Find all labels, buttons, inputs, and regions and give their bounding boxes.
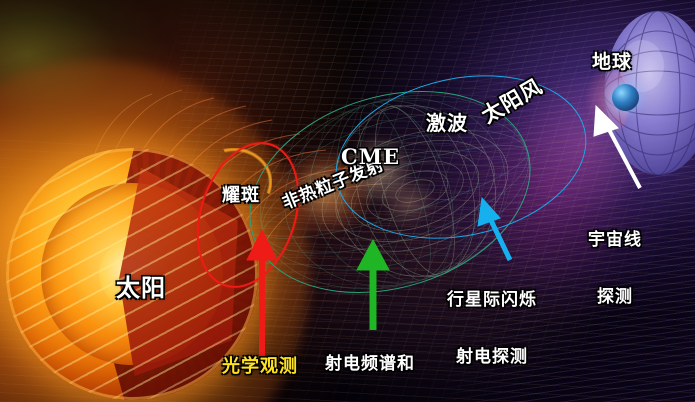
earth-globe	[612, 84, 639, 111]
label-shock: 激波	[426, 112, 468, 134]
label-cosmic-ray-detection: 宇宙线 探测	[588, 193, 642, 345]
figure-canvas: 太阳 耀斑 非热粒子发射 CME 激波 太阳风 地球 宇宙线 探测 行星际闪烁 …	[0, 0, 695, 402]
label-radio-line1: 射电频谱和	[325, 355, 415, 374]
label-earth: 地球	[592, 52, 632, 73]
label-cosmic-ray-line2: 探测	[588, 288, 642, 307]
label-ips-line1: 行星际闪烁	[447, 291, 537, 310]
label-cme: CME	[341, 145, 400, 169]
label-sun: 太阳	[116, 275, 166, 302]
label-optical-observation: 光学观测	[222, 357, 298, 377]
label-ips-line2: 射电探测	[447, 348, 537, 367]
label-interplanetary-scintillation: 行星际闪烁 射电探测	[447, 253, 537, 402]
label-cosmic-ray-line1: 宇宙线	[588, 231, 642, 250]
label-flare: 耀斑	[222, 186, 260, 206]
label-radio-spectrum-imaging: 射电频谱和 成像观测	[325, 317, 415, 402]
